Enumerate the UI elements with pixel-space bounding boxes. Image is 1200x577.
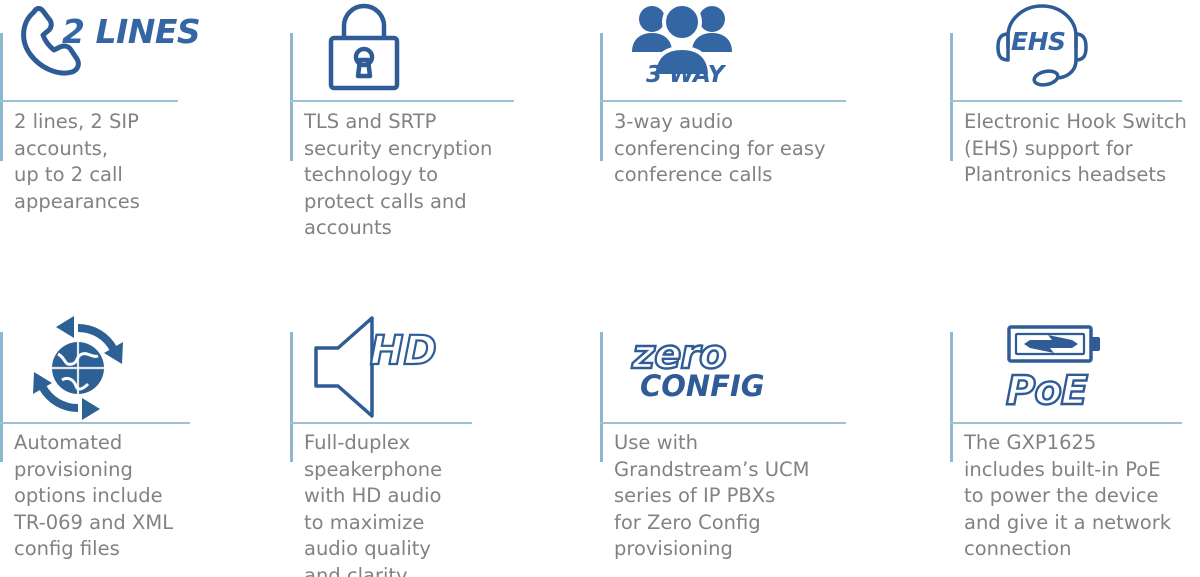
vertical-rule xyxy=(0,33,3,161)
icon-label: 3 WAY xyxy=(646,62,724,88)
icon-area: HD xyxy=(304,300,600,422)
icon-area: PoE xyxy=(964,300,1200,422)
icon-area: 3 WAY xyxy=(614,0,950,100)
padlock-icon xyxy=(314,0,414,95)
feature-description: The GXP1625 includes built-in PoE to pow… xyxy=(964,422,1200,563)
feature-cell-tls-srtp: TLS and SRTP security encryption technol… xyxy=(290,0,600,300)
horizontal-rule xyxy=(600,422,846,424)
feature-cell-two-lines: 2 LINES 2 lines, 2 SIP accounts, up to 2… xyxy=(0,0,290,300)
horizontal-rule xyxy=(950,100,1182,102)
feature-description: TLS and SRTP security encryption technol… xyxy=(304,100,600,242)
feature-description: Automated provisioning options include T… xyxy=(14,422,290,563)
icon-label: HD xyxy=(370,328,437,374)
vertical-rule xyxy=(290,332,293,462)
feature-description: 3-way audio conferencing for easy confer… xyxy=(614,100,950,189)
feature-description: Use with Grandstream’s UCM series of IP … xyxy=(614,422,950,563)
horizontal-rule xyxy=(290,100,514,102)
icon-area: zero CONFIG xyxy=(614,300,950,422)
icon-area: EHS xyxy=(964,0,1200,100)
feature-cell-poe: PoE The GXP1625 includes built-in PoE to… xyxy=(950,300,1200,577)
vertical-rule xyxy=(600,332,603,462)
vertical-rule xyxy=(950,33,953,161)
horizontal-rule xyxy=(600,100,846,102)
icon-label: EHS xyxy=(1011,27,1066,56)
icon-area xyxy=(14,300,290,422)
feature-cell-zero-config: zero CONFIG Use with Grandstream’s UCM s… xyxy=(600,300,950,577)
battery-poe-icon xyxy=(1006,322,1106,366)
icon-area xyxy=(304,0,600,100)
icon-label: PoE xyxy=(1006,370,1106,412)
icon-area: 2 LINES xyxy=(14,0,290,100)
vertical-rule xyxy=(0,332,3,462)
horizontal-rule xyxy=(950,422,1182,424)
zero-word: zero xyxy=(632,338,765,372)
vertical-rule xyxy=(950,332,953,462)
config-word: CONFIG xyxy=(640,372,765,401)
feature-description: Electronic Hook Switch (EHS) support for… xyxy=(964,100,1200,189)
feature-cell-ehs: EHS Electronic Hook Switch (EHS) support… xyxy=(950,0,1200,300)
icon-label: 2 LINES xyxy=(62,12,200,51)
globe-refresh-icon xyxy=(18,314,138,426)
vertical-rule xyxy=(290,33,293,161)
vertical-rule xyxy=(600,33,603,161)
feature-cell-full-duplex: HD Full-duplex speakerphone with HD audi… xyxy=(290,300,600,577)
feature-cell-provisioning: Automated provisioning options include T… xyxy=(0,300,290,577)
feature-description: Full-duplex speakerphone with HD audio t… xyxy=(304,422,600,577)
feature-cell-three-way: 3 WAY 3-way audio conferencing for easy … xyxy=(600,0,950,300)
zero-config-logo: zero CONFIG xyxy=(632,338,765,401)
horizontal-rule xyxy=(0,100,178,102)
feature-grid: 2 LINES 2 lines, 2 SIP accounts, up to 2… xyxy=(0,0,1200,577)
feature-description: 2 lines, 2 SIP accounts, up to 2 call ap… xyxy=(14,100,290,215)
